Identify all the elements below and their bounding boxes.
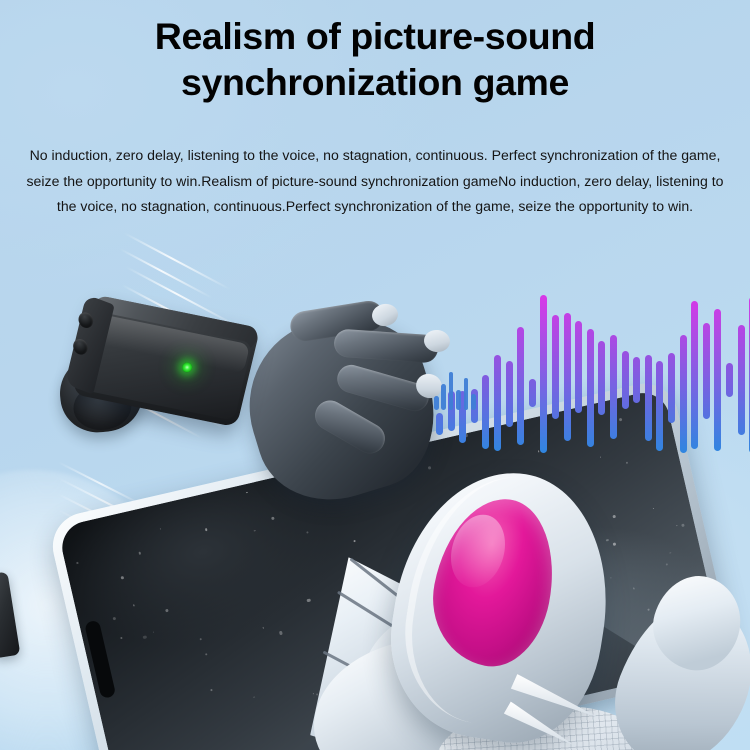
snow-particle [165, 609, 169, 613]
waveform-bar [656, 361, 663, 451]
mini-waveform-bar [471, 394, 476, 410]
body-line-4: continuous.Perfect synchronization of th… [214, 198, 693, 214]
page-title: Realism of picture-sound synchronization… [0, 14, 750, 106]
mini-waveform-bar [456, 390, 461, 410]
snow-particle [77, 562, 78, 563]
banner-stage: Realism of picture-sound synchronization… [0, 0, 750, 750]
snow-particle [120, 576, 123, 579]
snow-particle [138, 552, 141, 555]
audio-waveform-visualizer [436, 278, 728, 453]
waveform-bar [564, 313, 571, 441]
waveform-bar [726, 363, 733, 397]
waveform-bar [633, 357, 640, 403]
waveform-bar [575, 321, 582, 413]
waveform-bar [610, 335, 617, 439]
waveform-bar [482, 375, 489, 449]
description-paragraph: No induction, zero delay, listening to t… [26, 143, 724, 220]
waveform-bar [645, 355, 652, 441]
snow-particle [113, 617, 117, 621]
waveform-bar [622, 351, 629, 409]
bluetooth-audio-adapter [52, 298, 262, 450]
headline-line-2: synchronization game [0, 60, 750, 106]
waveform-bar [680, 335, 687, 453]
headline-line-1: Realism of picture-sound [0, 14, 750, 60]
mini-waveform-bar [464, 378, 469, 410]
secondary-audio-waveform [434, 368, 480, 410]
waveform-bar [598, 341, 605, 415]
snow-particle [160, 528, 161, 529]
waveform-bar [529, 379, 536, 407]
waveform-bar [691, 301, 698, 449]
waveform-bar [517, 327, 524, 445]
mini-waveform-bar [449, 372, 454, 410]
waveform-bar [540, 295, 547, 453]
waveform-bar [714, 309, 721, 451]
snow-particle [143, 636, 147, 640]
waveform-bar [494, 355, 501, 451]
device-port-2-icon [72, 337, 90, 357]
waveform-bar [703, 323, 710, 419]
mini-waveform-bar [434, 396, 439, 410]
waveform-bar [668, 353, 675, 423]
waveform-bar [738, 325, 745, 435]
mini-waveform-bar [441, 384, 446, 410]
snow-particle [133, 605, 134, 606]
waveform-bar [552, 315, 559, 419]
snow-particle [153, 631, 154, 632]
device-port-1-icon [77, 310, 95, 330]
body-line-1: No induction, zero delay, listening to t… [30, 147, 488, 163]
waveform-bar [587, 329, 594, 447]
waveform-bar [436, 413, 443, 435]
snow-particle [120, 637, 122, 639]
waveform-bar [506, 361, 513, 427]
